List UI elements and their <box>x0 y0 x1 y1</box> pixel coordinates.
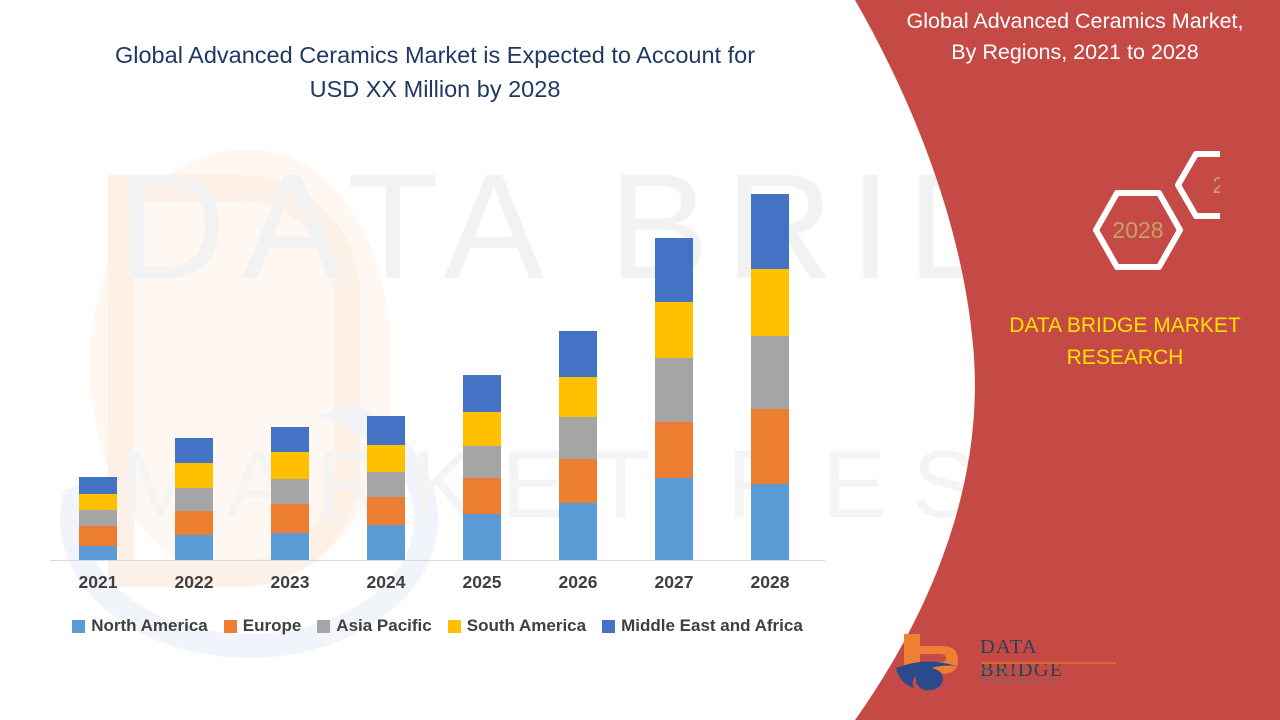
bar-segment <box>367 525 405 560</box>
bar-segment <box>463 478 501 514</box>
chart-title-line1: Global Advanced Ceramics Market is Expec… <box>60 38 810 72</box>
bar-segment <box>175 463 213 488</box>
bar-segment <box>463 514 501 560</box>
bar-segment <box>751 336 789 409</box>
bar-segment <box>367 497 405 525</box>
bar-segment <box>655 478 693 560</box>
bar-segment <box>175 511 213 535</box>
bar-segment <box>751 269 789 336</box>
bar-segment <box>559 377 597 417</box>
bar-segment <box>559 459 597 503</box>
bar-segment <box>79 477 117 494</box>
brand-name: DATA BRIDGE MARKET RESEARCH <box>980 310 1270 374</box>
bar-2023 <box>271 427 309 560</box>
legend-item[interactable]: Asia Pacific <box>317 616 431 636</box>
bar-2026 <box>559 331 597 560</box>
bar-segment <box>367 416 405 445</box>
x-tick-label-2023: 2023 <box>255 572 325 593</box>
x-tick-label-2022: 2022 <box>159 572 229 593</box>
bar-segment <box>463 446 501 478</box>
bar-segment <box>175 488 213 511</box>
logo-divider <box>981 662 1116 664</box>
brand-name-line2: RESEARCH <box>980 342 1270 374</box>
chart-legend: North AmericaEuropeAsia PacificSouth Ame… <box>50 616 825 636</box>
bar-segment <box>79 526 117 546</box>
bar-2028 <box>751 194 789 560</box>
legend-label: South America <box>467 616 586 636</box>
bar-segment <box>559 417 597 459</box>
x-axis-labels: 20212022202320242025202620272028 <box>50 572 825 602</box>
x-tick-label-2021: 2021 <box>63 572 133 593</box>
bar-2027 <box>655 238 693 560</box>
logo-subtitle: MARKET RESEARCH <box>981 666 1120 686</box>
hexagon-2028-label: 2028 <box>1112 217 1163 243</box>
x-tick-label-2028: 2028 <box>735 572 805 593</box>
logo-mark <box>890 630 976 692</box>
stacked-bar-chart <box>50 140 825 560</box>
slide-canvas: DATA BRIDGE MARKET RESEARCH Global Advan… <box>0 0 1280 720</box>
legend-swatch-icon <box>448 620 461 633</box>
bar-2024 <box>367 416 405 560</box>
bar-segment <box>655 422 693 478</box>
legend-label: Asia Pacific <box>336 616 431 636</box>
bar-segment <box>559 331 597 377</box>
bar-segment <box>79 510 117 526</box>
bar-segment <box>175 535 213 560</box>
x-axis-line <box>50 560 825 561</box>
brand-panel: Global Advanced Ceramics Market, By Regi… <box>820 0 1280 720</box>
chart-title: Global Advanced Ceramics Market is Expec… <box>60 38 810 106</box>
panel-title: Global Advanced Ceramics Market, By Regi… <box>875 6 1275 68</box>
bar-segment <box>271 533 309 560</box>
bar-2022 <box>175 438 213 560</box>
legend-label: North America <box>91 616 208 636</box>
legend-item[interactable]: Middle East and Africa <box>602 616 803 636</box>
bar-segment <box>463 412 501 446</box>
bar-segment <box>271 427 309 452</box>
bar-segment <box>751 484 789 560</box>
legend-item[interactable]: South America <box>448 616 586 636</box>
bar-segment <box>751 194 789 269</box>
logo-d-shape <box>916 668 943 691</box>
bar-segment <box>367 472 405 497</box>
bar-segment <box>271 479 309 504</box>
bar-segment <box>367 445 405 472</box>
hexagon-group: 2021 2028 <box>970 145 1220 290</box>
bar-segment <box>79 494 117 510</box>
x-tick-label-2027: 2027 <box>639 572 709 593</box>
legend-item[interactable]: North America <box>72 616 208 636</box>
legend-swatch-icon <box>72 620 85 633</box>
legend-label: Europe <box>243 616 302 636</box>
legend-swatch-icon <box>224 620 237 633</box>
x-tick-label-2024: 2024 <box>351 572 421 593</box>
bar-2025 <box>463 375 501 560</box>
bar-segment <box>655 302 693 358</box>
legend-label: Middle East and Africa <box>621 616 803 636</box>
bar-segment <box>559 503 597 560</box>
hexagon-2021-label: 2021 <box>1212 172 1220 198</box>
bar-segment <box>175 438 213 463</box>
bar-segment <box>79 546 117 560</box>
legend-swatch-icon <box>602 620 615 633</box>
bar-segment <box>655 238 693 302</box>
x-tick-label-2025: 2025 <box>447 572 517 593</box>
brand-name-line1: DATA BRIDGE MARKET <box>980 310 1270 342</box>
bar-2021 <box>79 477 117 560</box>
legend-item[interactable]: Europe <box>224 616 302 636</box>
bar-segment <box>655 358 693 422</box>
bar-segment <box>271 504 309 533</box>
x-tick-label-2026: 2026 <box>543 572 613 593</box>
legend-swatch-icon <box>317 620 330 633</box>
chart-title-line2: USD XX Million by 2028 <box>60 72 810 106</box>
bar-segment <box>271 452 309 479</box>
company-logo: DATA BRIDGE MARKET RESEARCH <box>890 630 1120 696</box>
bar-segment <box>463 375 501 412</box>
bar-segment <box>751 409 789 484</box>
panel-title-line2: By Regions, 2021 to 2028 <box>875 37 1275 68</box>
panel-title-line1: Global Advanced Ceramics Market, <box>875 6 1275 37</box>
